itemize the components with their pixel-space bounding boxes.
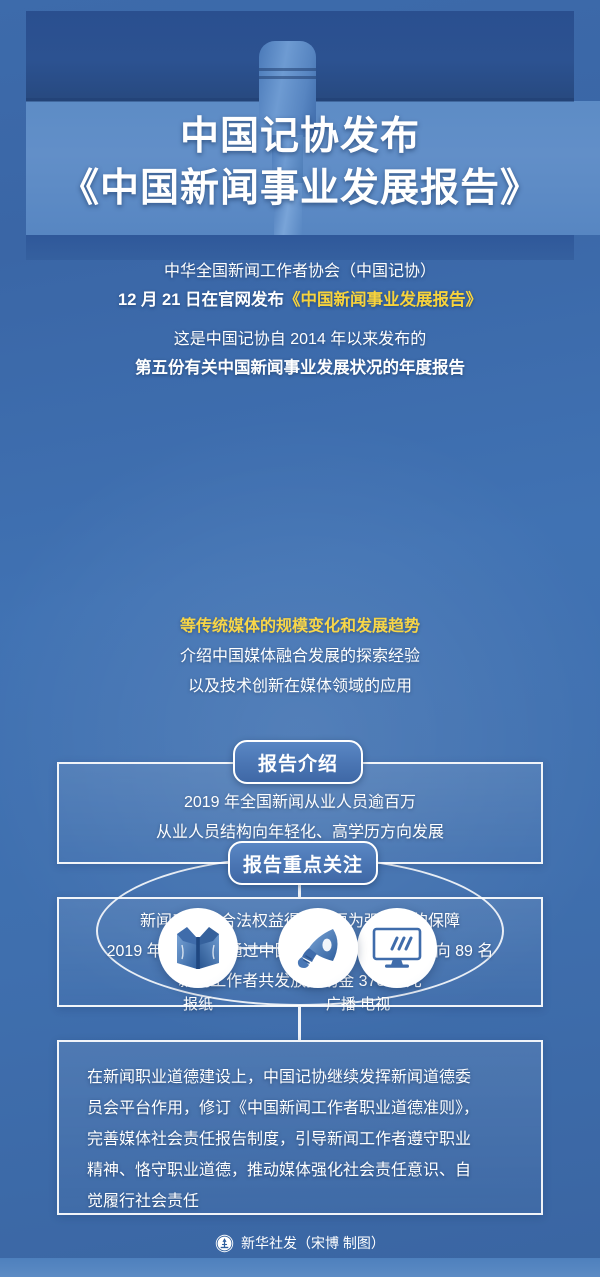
footer-credit-text: 新华社发（宋博 制图）	[241, 1233, 385, 1253]
report-pill-header: 报告介绍	[233, 740, 363, 784]
report-box-1-line-1: 2019 年全国新闻从业人员逾百万	[184, 788, 416, 818]
report-box-3-line-1: 在新闻职业道德建设上，中国记协继续发挥新闻道德委	[87, 1062, 513, 1093]
icon-circle-newspaper	[158, 908, 238, 988]
icon-circle-television	[357, 908, 437, 988]
infographic-poster: 中国记协发布 《中国新闻事业发展报告》 中华全国新闻工作者协会（中国记协） 12…	[0, 0, 600, 1277]
report-box-3-line-4: 精神、恪守职业道德，推动媒体强化社会责任意识、自	[87, 1155, 513, 1186]
intro-line-4: 第五份有关中国新闻事业发展状况的年度报告	[0, 354, 600, 382]
connector-box2-box3	[298, 1007, 301, 1040]
report-box-3-line-2: 员会平台作用，修订《中国新闻工作者职业道德准则》，	[87, 1093, 513, 1124]
intro-line-2: 12 月 21 日在官网发布《中国新闻事业发展报告》	[0, 286, 600, 314]
page-title: 中国记协发布 《中国新闻事业发展报告》	[0, 111, 600, 215]
report-box-3: 在新闻职业道德建设上，中国记协继续发挥新闻道德委 员会平台作用，修订《中国新闻工…	[57, 1040, 543, 1215]
intro-text-block: 中华全国新闻工作者协会（中国记协） 12 月 21 日在官网发布《中国新闻事业发…	[0, 258, 600, 382]
intro-line-2-prefix: 12 月 21 日在官网发布	[118, 291, 284, 309]
title-line-2: 《中国新闻事业发展报告》	[0, 163, 600, 215]
footer-strip	[0, 1258, 600, 1277]
focus-pill-header: 报告重点关注	[228, 841, 378, 885]
focus-line-1: 等传统媒体的规模变化和发展趋势	[0, 612, 600, 642]
intro-spacer	[0, 314, 600, 326]
icon-circle-megaphone	[278, 908, 358, 988]
header-band-bottom	[26, 235, 574, 260]
focus-pill-label: 报告重点关注	[243, 850, 363, 877]
intro-line-3: 这是中国记协自 2014 年以来发布的	[0, 326, 600, 354]
report-box-3-line-3: 完善媒体社会责任报告制度，引导新闻工作者遵守职业	[87, 1124, 513, 1155]
footer-credit: 新华社发（宋博 制图）	[0, 1228, 600, 1258]
intro-line-2-highlight: 《中国新闻事业发展报告》	[284, 291, 482, 309]
focus-line-3: 以及技术创新在媒体领域的应用	[0, 672, 600, 702]
connector-line-newspaper-radio	[236, 947, 282, 949]
microphone-ring-lower	[259, 76, 316, 79]
television-icon	[371, 926, 423, 970]
intro-line-1: 中华全国新闻工作者协会（中国记协）	[0, 258, 600, 286]
header-banner: 中国记协发布 《中国新闻事业发展报告》	[0, 0, 600, 260]
focus-line-2: 介绍中国媒体融合发展的探索经验	[0, 642, 600, 672]
title-line-1: 中国记协发布	[0, 111, 600, 163]
report-box-3-line-5: 觉履行社会责任	[87, 1186, 513, 1217]
focus-description-block: 等传统媒体的规模变化和发展趋势 介绍中国媒体融合发展的探索经验 以及技术创新在媒…	[0, 612, 600, 702]
microphone-ring-upper	[259, 68, 316, 71]
xinhua-logo-icon	[215, 1234, 234, 1253]
megaphone-icon	[291, 923, 345, 973]
newspaper-icon	[173, 925, 223, 971]
report-pill-label: 报告介绍	[258, 749, 338, 776]
